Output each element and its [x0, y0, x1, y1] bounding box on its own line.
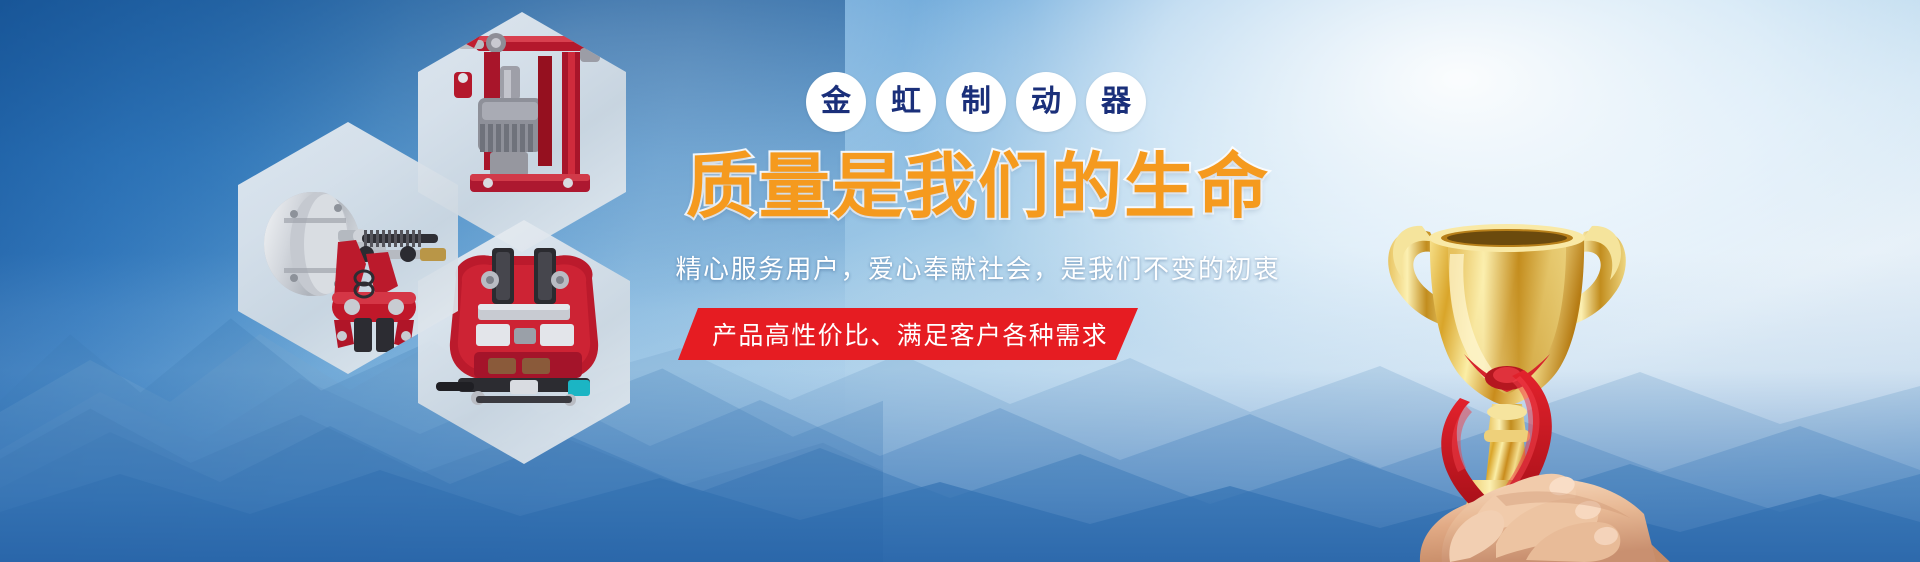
banner-headline: 质量是我们的生命: [668, 152, 1288, 223]
product-hexagon-group: [228, 6, 648, 454]
ribbon-row: 产品高性价比、满足客户各种需求: [668, 308, 1288, 360]
hands-holding-trophy: [1300, 412, 1670, 562]
brand-name-badges: 金 虹 制 动 器: [664, 72, 1288, 132]
banner-subtitle: 精心服务用户，爱心奉献社会，是我们不变的初衷: [668, 249, 1288, 286]
brand-badge-char: 金: [806, 72, 866, 132]
ribbon-label: 产品高性价比、满足客户各种需求: [712, 316, 1108, 352]
brand-badge-char: 动: [1016, 72, 1076, 132]
promo-banner: 金 虹 制 动 器 质量是我们的生命 精心服务用户，爱心奉献社会，是我们不变的初…: [0, 0, 1920, 562]
brand-badge-char: 器: [1086, 72, 1146, 132]
brand-badge-char: 虹: [876, 72, 936, 132]
brand-badge-char: 制: [946, 72, 1006, 132]
red-ribbon-tag: 产品高性价比、满足客户各种需求: [678, 308, 1138, 360]
banner-text-block: 金 虹 制 动 器 质量是我们的生命 精心服务用户，爱心奉献社会，是我们不变的初…: [668, 72, 1288, 402]
